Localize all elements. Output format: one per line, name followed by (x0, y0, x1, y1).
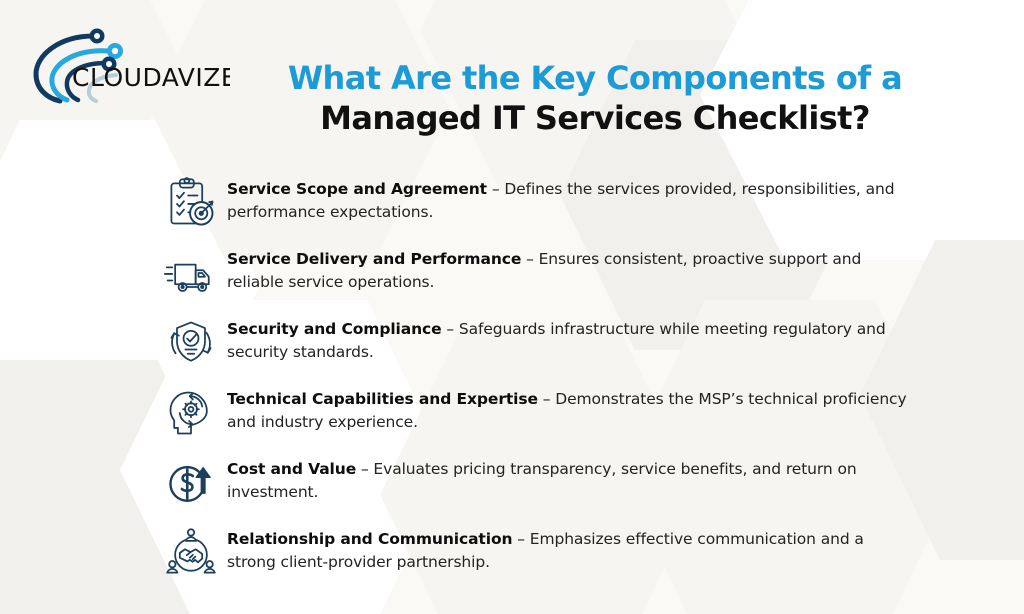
list-item-text: Service Delivery and Performance – Ensur… (227, 242, 914, 294)
page-title-line-2: Managed IT Services Checklist? (245, 98, 945, 138)
list-item: Relationship and Communication – Emphasi… (155, 522, 914, 584)
list-item-term: Technical Capabilities and Expertise (227, 390, 538, 408)
poster-header: CLOUDAVIZE What Are the Key Components o… (0, 0, 1024, 150)
list-item-term: Service Scope and Agreement (227, 180, 487, 198)
list-item-text: Security and Compliance – Safeguards inf… (227, 312, 914, 364)
list-item: Technical Capabilities and Expertise – D… (155, 382, 914, 444)
list-item-dash: – (543, 390, 555, 408)
infographic-poster: CLOUDAVIZE What Are the Key Components o… (0, 0, 1024, 614)
list-item-text: Service Scope and Agreement – Defines th… (227, 172, 914, 224)
page-title: What Are the Key Components of a Managed… (245, 58, 945, 138)
list-item-dash: – (526, 250, 538, 268)
list-item-term: Cost and Value (227, 460, 356, 478)
list-item-term: Relationship and Communication (227, 530, 512, 548)
list-item-dash: – (446, 320, 458, 338)
dollar-circle-up-arrow-icon (155, 452, 227, 514)
logo-wordmark: CLOUDAVIZE (72, 63, 230, 92)
checklist: Service Scope and Agreement – Defines th… (155, 172, 914, 592)
list-item: Service Delivery and Performance – Ensur… (155, 242, 914, 304)
page-title-line-1: What Are the Key Components of a (245, 58, 945, 98)
list-item-term: Service Delivery and Performance (227, 250, 521, 268)
delivery-truck-icon (155, 242, 227, 304)
list-item-dash: – (517, 530, 529, 548)
head-gear-process-icon (155, 382, 227, 444)
list-item-text: Technical Capabilities and Expertise – D… (227, 382, 914, 434)
list-item-term: Security and Compliance (227, 320, 442, 338)
shield-check-refresh-icon (155, 312, 227, 374)
clipboard-checklist-target-icon (155, 172, 227, 234)
list-item: Cost and Value – Evaluates pricing trans… (155, 452, 914, 514)
cloudavize-logo: CLOUDAVIZE (20, 18, 230, 104)
list-item: Security and Compliance – Safeguards inf… (155, 312, 914, 374)
handshake-network-icon (155, 522, 227, 584)
list-item: Service Scope and Agreement – Defines th… (155, 172, 914, 234)
list-item-dash: – (492, 180, 504, 198)
list-item-dash: – (361, 460, 373, 478)
list-item-text: Relationship and Communication – Emphasi… (227, 522, 914, 574)
list-item-text: Cost and Value – Evaluates pricing trans… (227, 452, 914, 504)
